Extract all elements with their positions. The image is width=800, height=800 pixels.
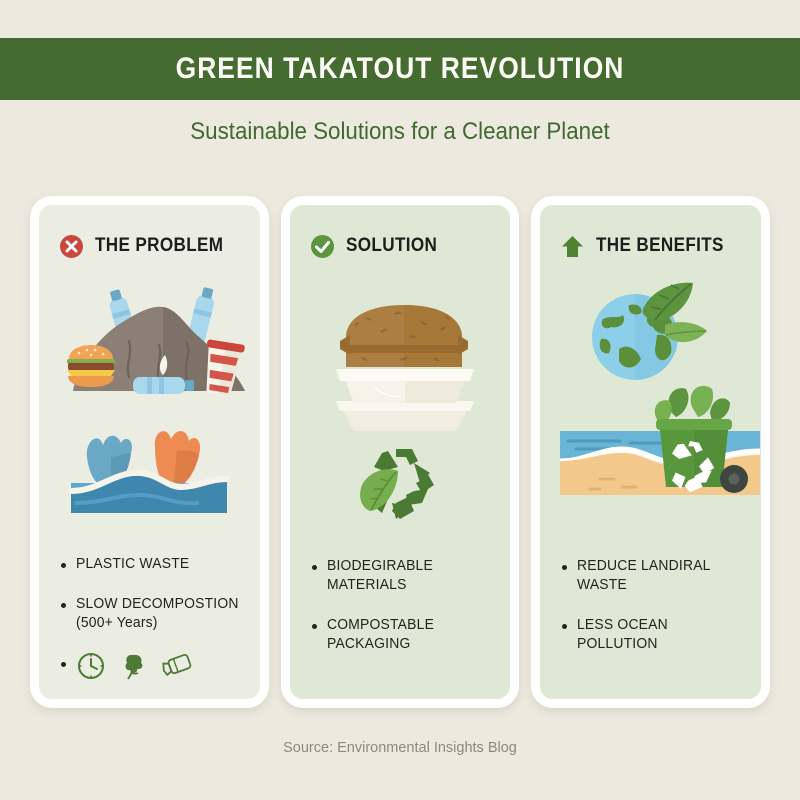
ocean-plastic-illustration: [59, 417, 240, 521]
list-item: SLOW DECOMPOSTION (500+ Years): [61, 595, 246, 633]
bullet-dot: [61, 662, 66, 667]
bullet-text: PLASTIC WASTE: [76, 555, 189, 574]
card-solution[interactable]: SOLUTION: [281, 196, 520, 708]
list-item: BIODEGIRABLE MATERIALS: [312, 557, 497, 595]
arrow-up-icon: [560, 234, 585, 259]
page-title: GREEN TAKATOUT REVOLUTION: [176, 52, 625, 86]
circle-x-icon: [59, 234, 84, 259]
bullet-dot: [312, 624, 317, 629]
bullet-text: REDUCE LANDIRAL WASTE: [577, 557, 740, 595]
bullet-dot: [61, 563, 66, 568]
earth-leaves-illustration: [560, 275, 741, 387]
bullet-text: SLOW DECOMPOSTION (500+ Years): [76, 595, 239, 633]
kraft-container-stack-illustration: [310, 291, 491, 431]
page-subtitle: Sustainable Solutions for a Cleaner Plan…: [28, 118, 772, 146]
trash-pile-illustration: [59, 279, 240, 399]
list-item: LESS OCEAN POLLUTION: [562, 616, 747, 654]
bottle-icon: [160, 653, 194, 679]
recycle-leaf-icon: [310, 441, 491, 527]
list-item: REDUCE LANDIRAL WASTE: [562, 557, 747, 595]
card-benefits-label: THE BENEFITS: [596, 235, 724, 257]
card-solution-bullets: BIODEGIRABLE MATERIALS COMPOSTABLE PACKA…: [312, 557, 497, 676]
title-band: GREEN TAKATOUT REVOLUTION: [0, 38, 800, 100]
card-solution-header: SOLUTION: [310, 231, 491, 261]
card-problem-header: THE PROBLEM: [59, 231, 240, 261]
bullet-text: BIODEGIRABLE MATERIALS: [327, 557, 490, 595]
beach-recycle-bin-illustration: [560, 383, 741, 503]
list-item: PLASTIC WASTE: [61, 555, 246, 574]
bullet-dot: [61, 603, 66, 608]
card-benefits-header: THE BENEFITS: [560, 231, 741, 261]
source-note: Source: Environmental Insights Blog: [0, 740, 800, 756]
list-item-icons: [61, 654, 246, 681]
clock-icon: [76, 651, 106, 681]
dead-plant-icon: [120, 651, 146, 681]
bullet-dot: [312, 565, 317, 570]
card-problem[interactable]: THE PROBLEM: [30, 196, 269, 708]
bullet-dot: [562, 624, 567, 629]
bullet-text: COMPOSTABLE PACKAGING: [327, 616, 434, 654]
card-problem-bullets: PLASTIC WASTE SLOW DECOMPOSTION (500+ Ye…: [61, 555, 246, 702]
bullet-text: LESS OCEAN POLLUTION: [577, 616, 740, 654]
card-benefits[interactable]: THE BENEFITS: [531, 196, 770, 708]
circle-check-icon: [310, 234, 335, 259]
card-problem-label: THE PROBLEM: [95, 235, 223, 257]
card-benefits-bullets: REDUCE LANDIRAL WASTE LESS OCEAN POLLUTI…: [562, 557, 747, 676]
bullet-dot: [562, 565, 567, 570]
card-row: THE PROBLEM: [30, 196, 770, 708]
card-solution-label: SOLUTION: [346, 235, 437, 257]
list-item: COMPOSTABLE PACKAGING: [312, 616, 497, 654]
